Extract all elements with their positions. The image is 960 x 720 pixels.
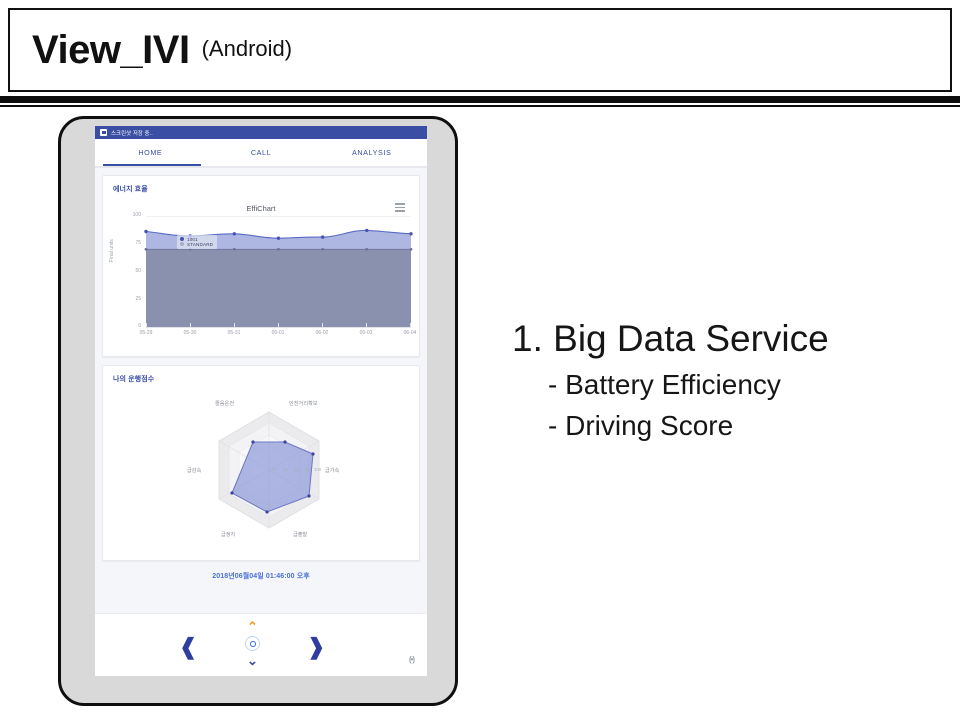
radar-tick-80: 80 [305,467,310,472]
tablet-screen: 스크린샷 저장 중.. HOME CALL ANALYSIS 에너지 효율 Ef… [95,126,427,676]
x-tickmark-5 [366,323,367,328]
x-tickmark-2 [234,323,235,328]
tab-home[interactable]: HOME [95,139,206,166]
chevron-right-icon[interactable]: ❱ [307,636,325,658]
android-status-bar: 스크린샷 저장 중.. [95,126,427,139]
screenshot-icon [100,129,107,136]
radar-label-sudden-decel: 급감속 [187,467,201,474]
x-tick-label-0: 05-29 [131,330,161,336]
radar-label-drowsy-driving: 졸음운전 [215,400,234,407]
x-tickmark-6 [410,323,411,328]
x-tickmark-3 [278,323,279,328]
radar-tick-40: 40 [283,467,288,472]
card-title-energy-efficiency: 에너지 효율 [103,176,419,194]
radar-chart-svg [103,378,427,562]
right-text-panel: 1. Big Data Service - Battery Efficiency… [512,318,942,442]
radar-label-sudden-stop: 급정지 [221,531,235,538]
card-energy-efficiency: 에너지 효율 EffiChart Final units 100 75 50 2… [102,175,420,357]
chevron-up-icon[interactable]: ⌃ [247,620,258,633]
radar-label-sudden-accel: 급가속 [325,467,339,474]
legend-item-standard[interactable]: STANDARD [180,242,213,247]
effichart-plot: Final units 100 75 50 25 0 [103,210,427,358]
feature-bullet-driving: - Driving Score [548,410,942,442]
tab-call[interactable]: CALL [206,139,317,166]
legend-label-standard: STANDARD [187,242,213,247]
navigation-pad: ❰ ❱ ⌃ ⌄ (•) [95,613,427,676]
x-tick-label-3: 06-01 [263,330,293,336]
tab-analysis[interactable]: ANALYSIS [316,139,427,166]
x-tick-label-6: 06-04 [395,330,425,336]
radar-tick-60: 60 [294,467,299,472]
slide-root: View_IVI (Android) 1. Big Data Service -… [0,0,960,720]
chevron-down-icon[interactable]: ⌄ [247,654,258,667]
tab-bar: HOME CALL ANALYSIS [95,139,427,166]
chart-legend: 1001 STANDARD [177,235,217,249]
dpad-center-icon[interactable] [245,636,260,651]
title-divider-thin [0,105,960,107]
tablet-device-frame: 스크린샷 저장 중.. HOME CALL ANALYSIS 에너지 효율 Ef… [58,116,458,706]
radar-tick-20: 20 [272,467,277,472]
radar-label-safe-distance: 안전거리확보 [289,400,318,407]
x-tickmark-1 [190,323,191,328]
radar-chart: 졸음운전 안전거리확보 급가속 급출발 급정지 급감속 20 40 60 80 … [103,378,427,562]
x-tick-label-5: 06-03 [351,330,381,336]
bluetooth-connected-icon: (•) [409,655,414,664]
radar-tick-100: 100 [314,467,321,472]
title-divider [0,96,960,103]
legend-dot-1001 [180,237,184,241]
last-updated-timestamp: 2018년06월04일 01:46:00 오후 [102,561,420,581]
page-title: View_IVI [32,28,190,73]
page-subtitle: (Android) [202,36,292,65]
card-driving-score: 나의 운행점수 [102,365,420,561]
x-tickmark-4 [322,323,323,328]
feature-bullet-battery: - Battery Efficiency [548,369,942,401]
x-tickmark-0 [146,323,147,328]
screen-content: 에너지 효율 EffiChart Final units 100 75 50 2… [95,168,427,581]
x-tick-label-4: 06-02 [307,330,337,336]
x-tick-label-1: 05-30 [175,330,205,336]
x-tick-label-2: 05-31 [219,330,249,336]
radar-label-sudden-start: 급출발 [293,531,307,538]
legend-dot-standard [180,242,184,246]
slide-title-box: View_IVI (Android) [8,8,952,92]
chevron-left-icon[interactable]: ❰ [179,636,197,658]
status-bar-text: 스크린샷 저장 중.. [111,129,153,137]
feature-heading: 1. Big Data Service [512,318,942,360]
tab-active-indicator [103,164,201,166]
